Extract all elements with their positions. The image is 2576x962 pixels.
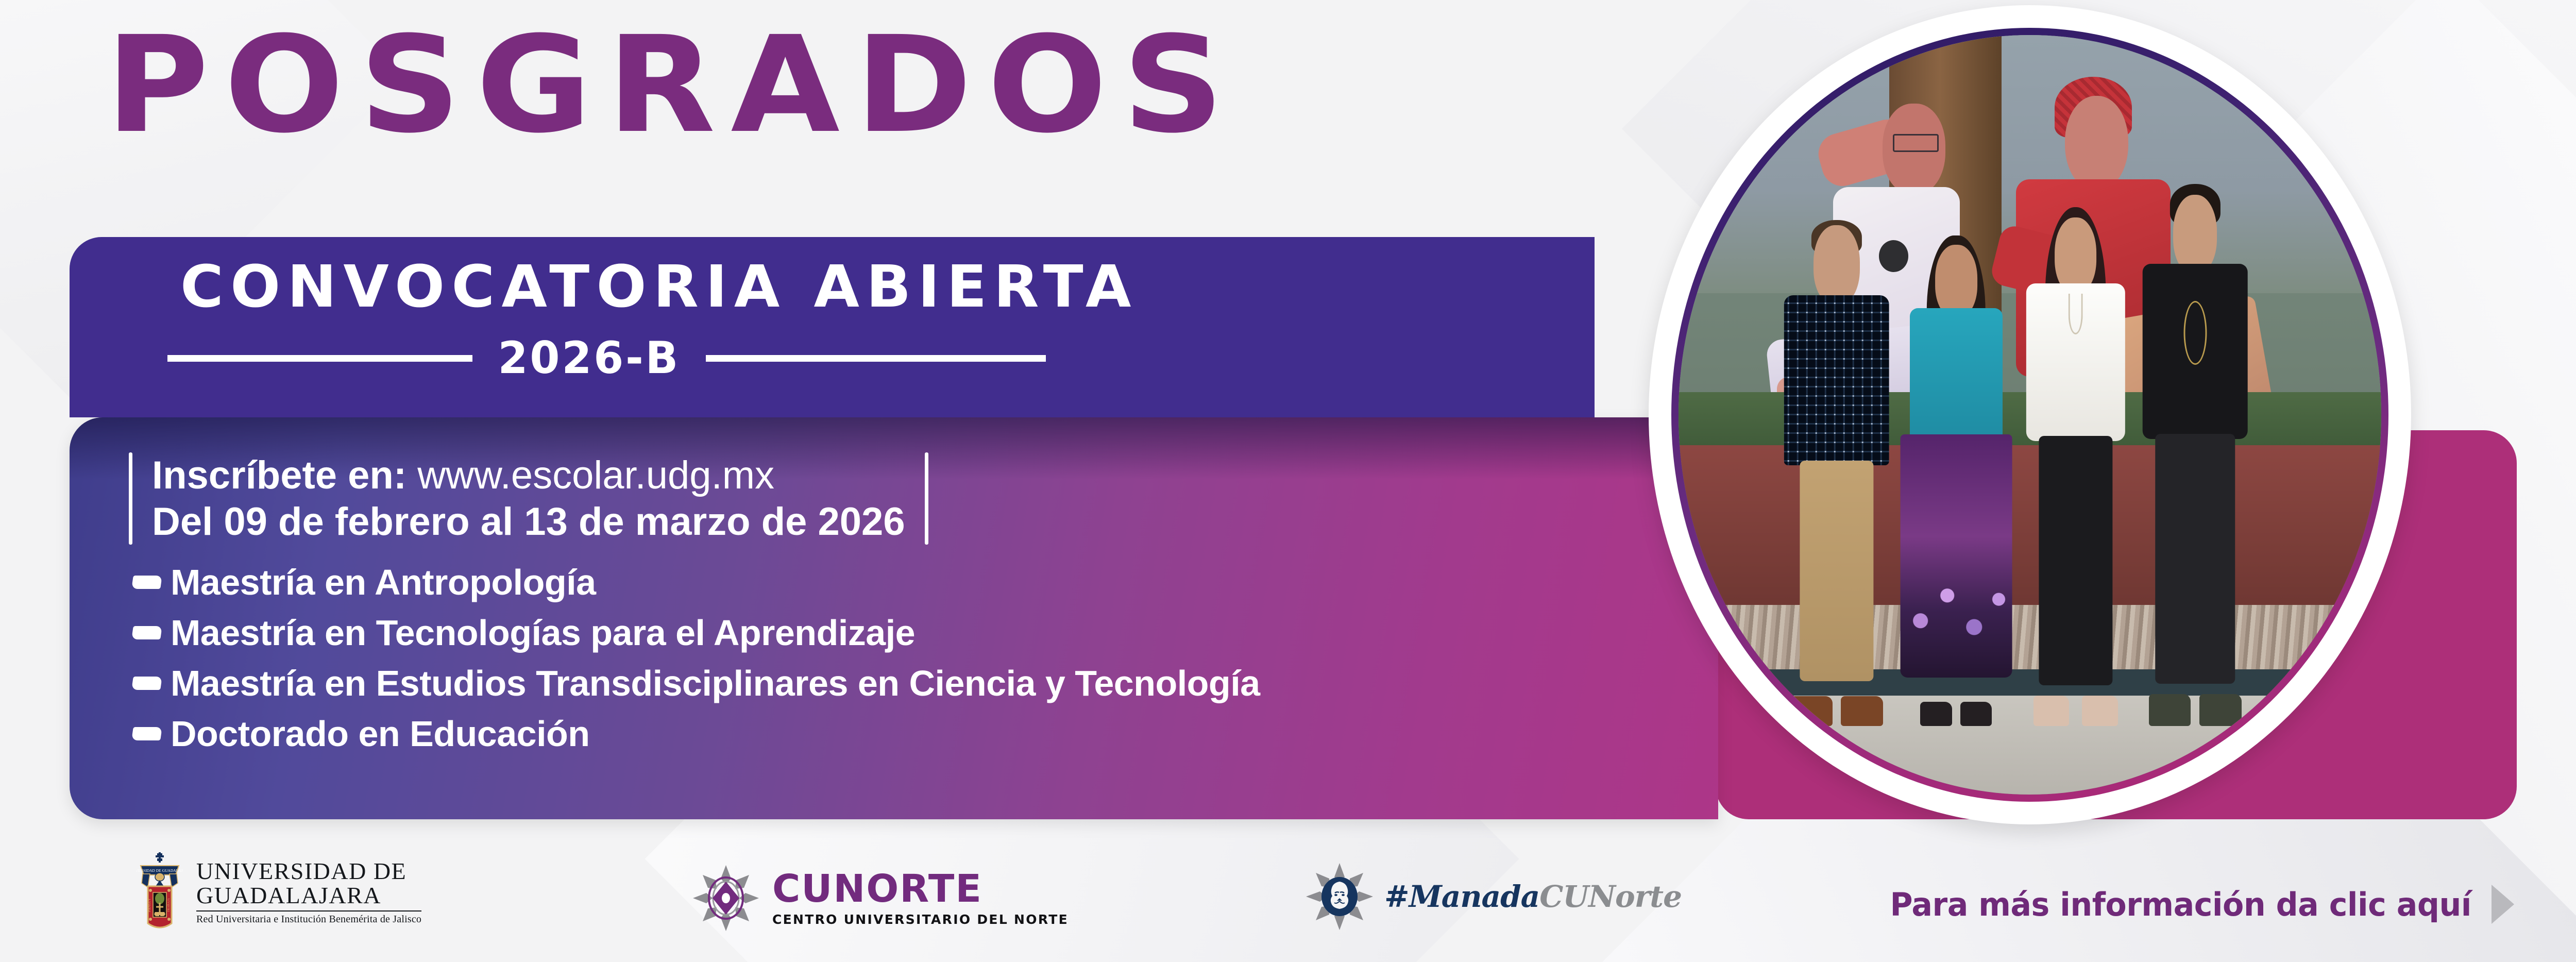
manada-wordmark: #ManadaCUNorte xyxy=(1384,879,1682,914)
necklace xyxy=(2068,294,2083,334)
student-figure xyxy=(2142,195,2248,727)
term-row: 2026-B xyxy=(167,332,1046,384)
cta-label: Para más información da clic aquí xyxy=(1890,886,2471,923)
shoe xyxy=(1960,702,1992,726)
shoe xyxy=(1841,696,1883,726)
announcement-banner: CONVOCATORIA ABIERTA 2026-B xyxy=(70,237,1595,417)
student-figure xyxy=(1903,240,2009,726)
enrollment-url[interactable]: www.escolar.udg.mx xyxy=(417,453,774,497)
mural-background xyxy=(1679,35,2381,795)
enrollment-label: Inscríbete en: xyxy=(152,453,406,497)
mural-woman-head xyxy=(2065,96,2128,191)
svg-text:PIENSA Y: PIENSA Y xyxy=(148,898,151,912)
shoe xyxy=(2199,694,2242,726)
enrollment-line-2: Del 09 de febrero al 13 de marzo de 2026 xyxy=(152,499,905,545)
cunorte-full-name: CENTRO UNIVERSITARIO DEL NORTE xyxy=(772,912,1069,927)
play-triangle-icon xyxy=(2492,885,2514,924)
manada-logo: #ManadaCUNorte xyxy=(1306,863,1682,930)
cunorte-logo: CUNORTE CENTRO UNIVERSITARIO DEL NORTE xyxy=(693,865,1069,931)
program-label: Maestría en Estudios Transdisciplinares … xyxy=(171,663,1260,704)
head xyxy=(2055,217,2097,294)
cunorte-acronym: CUNORTE xyxy=(772,870,1069,908)
footer: UNIVERSIDAD DE GUADALAJARA PIENSA Y TRAB… xyxy=(0,818,2576,962)
head xyxy=(1935,245,1977,318)
dash-bullet-icon xyxy=(131,727,162,740)
dash-bullet-icon xyxy=(131,626,162,639)
info-panel: Inscríbete en: www.escolar.udg.mx Del 09… xyxy=(70,417,1718,819)
banner-title: CONVOCATORIA ABIERTA xyxy=(180,254,1138,320)
teal-blouse xyxy=(1910,308,2003,444)
head xyxy=(1814,225,1860,306)
udg-line-2: GUADALAJARA xyxy=(196,884,421,908)
head xyxy=(2173,195,2217,275)
program-list: Maestría en Antropología Maestría en Tec… xyxy=(132,562,1260,764)
shoe xyxy=(2082,696,2118,726)
plaid-shirt xyxy=(1784,295,1890,466)
shoe xyxy=(2033,696,2070,726)
udg-logo: UNIVERSIDAD DE GUADALAJARA PIENSA Y TRAB… xyxy=(137,851,421,934)
student-photo xyxy=(1649,5,2411,824)
shoe xyxy=(1790,696,1833,726)
cargo-pants xyxy=(2155,434,2235,684)
program-label: Maestría en Tecnologías para el Aprendiz… xyxy=(171,612,915,653)
tshirt-emblem xyxy=(2183,301,2207,365)
dash-bullet-icon xyxy=(131,677,162,690)
black-pants xyxy=(2039,436,2112,685)
right-accent-bar xyxy=(925,452,928,545)
dash-bullet-icon xyxy=(131,576,162,589)
list-item: Maestría en Tecnologías para el Aprendiz… xyxy=(132,612,1260,653)
svg-text:TRABAJA: TRABAJA xyxy=(167,898,171,912)
mural-boy-glasses xyxy=(1893,134,1939,152)
cta-link[interactable]: Para más información da clic aquí xyxy=(1881,885,2514,924)
cunorte-wordmark: CUNORTE CENTRO UNIVERSITARIO DEL NORTE xyxy=(772,870,1069,927)
rule-left xyxy=(167,355,472,362)
enrollment-text: Inscríbete en: www.escolar.udg.mx Del 09… xyxy=(132,452,925,545)
enrollment-dates: Del 09 de febrero al 13 de marzo de 2026 xyxy=(152,500,905,544)
shield-icon: UNIVERSIDAD DE GUADALAJARA PIENSA Y TRAB… xyxy=(137,851,183,934)
svg-text:UNIVERSIDAD DE GUADALAJARA: UNIVERSIDAD DE GUADALAJARA xyxy=(137,868,183,873)
left-accent-bar xyxy=(129,452,132,545)
udg-wordmark: UNIVERSIDAD DE GUADALAJARA Red Universit… xyxy=(196,859,421,925)
pants xyxy=(1800,461,1873,681)
enrollment-line-1: Inscríbete en: www.escolar.udg.mx xyxy=(152,452,905,499)
rule-right xyxy=(706,355,1046,362)
photo-image xyxy=(1679,35,2381,795)
manada-suffix: CUNorte xyxy=(1539,879,1682,914)
page-title: POSGRADOS xyxy=(106,15,1239,155)
list-item: Doctorado en Educación xyxy=(132,713,1260,754)
term-label: 2026-B xyxy=(498,332,680,384)
student-figure xyxy=(2023,217,2128,727)
shoe xyxy=(2149,694,2191,726)
list-item: Maestría en Antropología xyxy=(132,562,1260,603)
shoe xyxy=(1920,702,1952,726)
list-item: Maestría en Estudios Transdisciplinares … xyxy=(132,663,1260,704)
divider xyxy=(196,910,421,912)
lion-star-icon xyxy=(1306,863,1373,930)
student-figure xyxy=(1784,225,1890,727)
manada-hashtag: #Manada xyxy=(1384,879,1539,914)
udg-line-1: UNIVERSIDAD DE xyxy=(196,859,421,884)
program-label: Maestría en Antropología xyxy=(171,562,596,603)
skirt-flowers xyxy=(1900,551,2012,678)
program-label: Doctorado en Educación xyxy=(171,713,590,754)
enrollment-block: Inscríbete en: www.escolar.udg.mx Del 09… xyxy=(129,452,928,545)
udg-tagline: Red Universitaria e Institución Beneméri… xyxy=(196,914,421,925)
mandala-star-icon xyxy=(693,865,759,931)
